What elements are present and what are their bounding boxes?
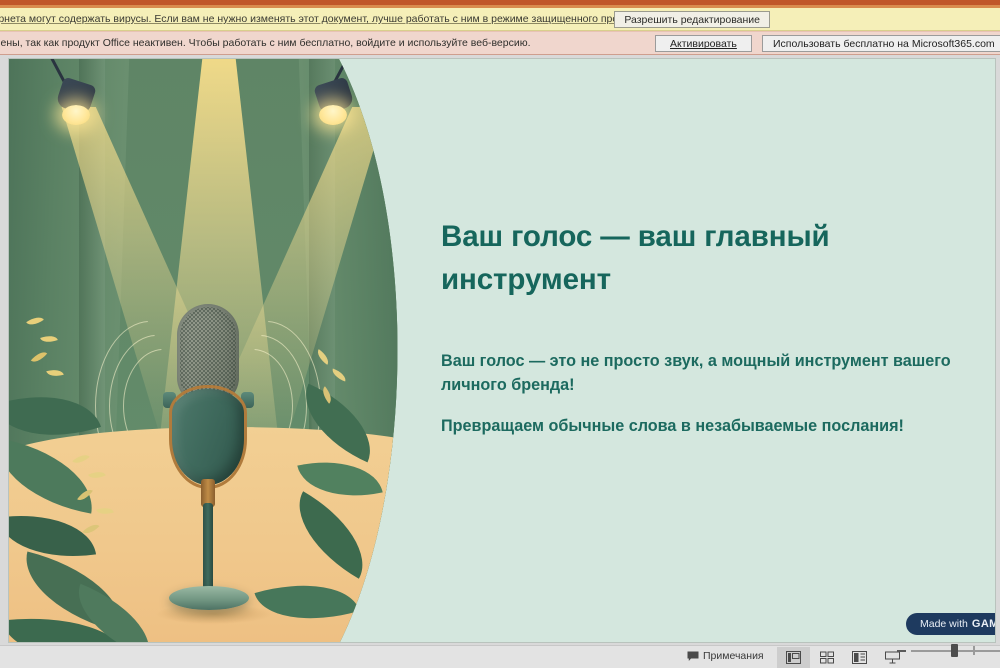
microphone-ring xyxy=(169,385,247,489)
normal-view-button[interactable] xyxy=(777,647,810,668)
reading-view-icon xyxy=(852,651,867,664)
activate-button[interactable]: Активировать xyxy=(655,35,752,52)
lamp-glow xyxy=(62,105,90,125)
activation-message: возможностей отключены, так как продукт … xyxy=(0,37,531,49)
slide-body-text[interactable]: Ваш голос — это не просто звук, а мощный… xyxy=(441,349,971,438)
zoom-out-button[interactable] xyxy=(897,650,906,652)
enable-editing-button[interactable]: Разрешить редактирование xyxy=(614,11,770,28)
slide-sorter-icon xyxy=(820,651,834,664)
slide-sorter-view-button[interactable] xyxy=(810,647,843,668)
microphone-stand-pole xyxy=(203,503,213,595)
reading-view-button[interactable] xyxy=(843,647,876,668)
slide-paragraph-1: Ваш голос — это не просто звук, а мощный… xyxy=(441,349,971,398)
protected-view-bar: ожны: файлы из Интернета могут содержать… xyxy=(0,8,1000,31)
activate-button-label: Активировать xyxy=(670,38,737,50)
zoom-slider-track[interactable] xyxy=(911,650,1000,652)
golden-sprig xyxy=(67,451,157,561)
slide-canvas[interactable]: Ваш голос — ваш главный инструмент Ваш г… xyxy=(8,58,996,643)
golden-sprig xyxy=(23,309,93,399)
slide-paragraph-2: Превращаем обычные слова в незабываемые … xyxy=(441,414,971,438)
view-buttons-group xyxy=(777,647,909,668)
notes-label: Примечания xyxy=(703,650,764,662)
gamma-badge-prefix: Made with xyxy=(920,618,968,630)
zoom-slider-midpoint xyxy=(973,646,975,655)
status-bar: Примечания xyxy=(0,645,1000,668)
lamp-glow xyxy=(319,105,347,125)
notes-button[interactable]: Примечания xyxy=(687,650,764,662)
microphone-stand-base xyxy=(169,586,249,610)
use-free-microsoft365-button[interactable]: Использовать бесплатно на Microsoft365.c… xyxy=(762,35,1000,52)
normal-view-icon xyxy=(786,651,801,664)
zoom-slider-thumb[interactable] xyxy=(951,644,958,657)
made-with-gamma-badge[interactable]: Made with GAMMA xyxy=(906,613,996,635)
zoom-control[interactable] xyxy=(897,650,1000,652)
golden-sprig xyxy=(305,347,385,443)
protected-view-message: ожны: файлы из Интернета могут содержать… xyxy=(0,13,656,25)
gamma-badge-brand: GAMMA xyxy=(972,618,996,630)
slideshow-icon xyxy=(885,651,900,664)
powerpoint-window: ожны: файлы из Интернета могут содержать… xyxy=(0,0,1000,668)
microphone-illustration xyxy=(9,59,429,642)
slide-editing-area[interactable]: Ваш голос — ваш главный инструмент Ваш г… xyxy=(0,55,1000,643)
slide-title[interactable]: Ваш голос — ваш главный инструмент xyxy=(441,216,871,302)
comment-icon xyxy=(687,651,699,662)
